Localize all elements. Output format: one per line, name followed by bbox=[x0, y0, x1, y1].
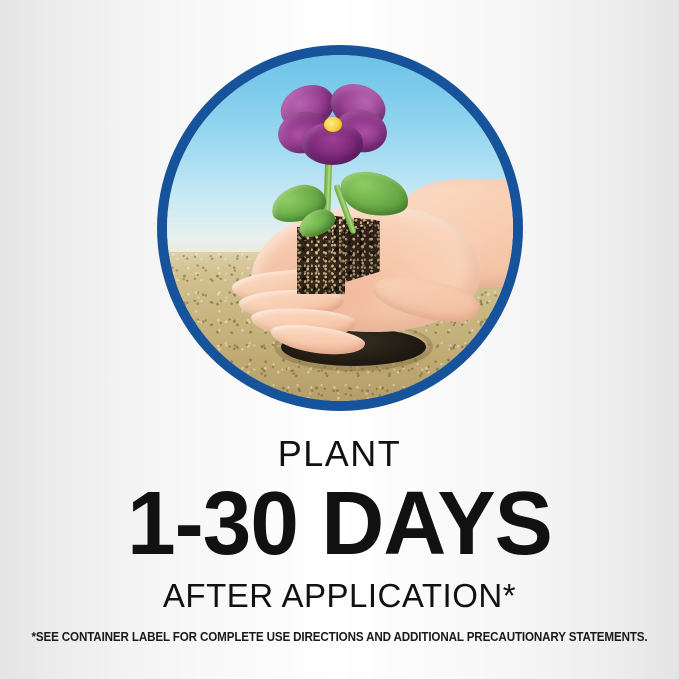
footnote-disclaimer: *SEE CONTAINER LABEL FOR COMPLETE USE DI… bbox=[24, 630, 655, 644]
rootball-front-face bbox=[297, 227, 345, 294]
hero-circle-frame bbox=[157, 45, 523, 411]
pansy-flower bbox=[278, 79, 389, 169]
headline-top-line: PLANT bbox=[0, 436, 679, 472]
headline-main-line: 1-30 DAYS bbox=[10, 479, 669, 571]
product-info-panel: PLANT 1-30 DAYS AFTER APPLICATION* *SEE … bbox=[0, 0, 679, 679]
headline-block: PLANT 1-30 DAYS AFTER APPLICATION* bbox=[0, 436, 679, 612]
headline-bottom-line: AFTER APPLICATION* bbox=[0, 579, 679, 612]
hero-illustration bbox=[167, 55, 513, 401]
